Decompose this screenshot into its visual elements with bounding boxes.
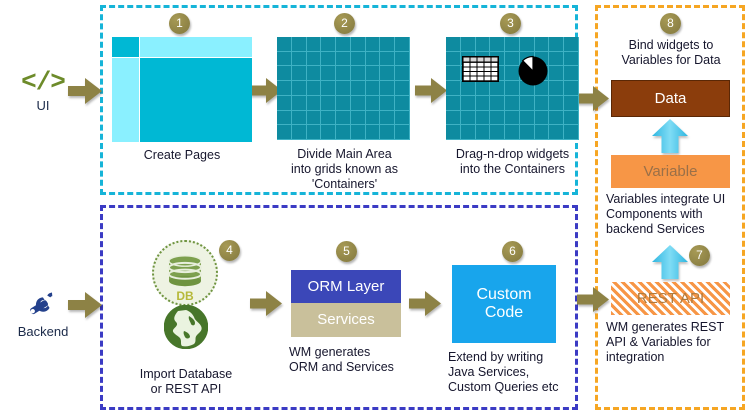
grid-cell [321, 66, 336, 81]
step2-caption: Divide Main Areainto grids known as'Cont… [272, 147, 417, 192]
grid-cell [336, 37, 351, 52]
grid-cell [351, 111, 366, 126]
grid-cell [366, 66, 381, 81]
step-badge-5: 5 [336, 241, 357, 262]
grid-cell [336, 111, 351, 126]
grid-cell [490, 111, 505, 126]
grid-cell [564, 111, 579, 126]
services-block: Services [291, 303, 401, 337]
grid-cell [535, 96, 550, 111]
custom-code-label: CustomCode [476, 286, 531, 323]
grid-cell [380, 125, 395, 140]
wrench-icon [24, 288, 62, 322]
grid-cell [351, 52, 366, 67]
grid-cell [277, 81, 292, 96]
grid-cell [336, 96, 351, 111]
grid-cell [366, 96, 381, 111]
grid-cell [277, 37, 292, 52]
grid-cell [321, 52, 336, 67]
mockup-header-bar [140, 37, 252, 57]
grid-cell [520, 37, 535, 52]
step4-caption-text: Import Databaseor REST API [140, 367, 232, 396]
step3-caption-text: Drag-n-drop widgetsinto the Containers [456, 147, 569, 176]
grid-cell [292, 52, 307, 67]
arrow-step3-to-data [577, 86, 609, 111]
grid-cell [490, 81, 505, 96]
grid-cell [366, 111, 381, 126]
grid-cell [380, 66, 395, 81]
arrow-backend-to-step4 [68, 292, 102, 318]
services-label: Services [317, 311, 375, 328]
mockup-sidebar [112, 58, 139, 142]
custom-code-block: CustomCode [452, 265, 556, 343]
grid-cell [380, 111, 395, 126]
grid-cell [490, 37, 505, 52]
grid-cell [395, 52, 410, 67]
grid-cell [564, 81, 579, 96]
table-widget-icon [462, 56, 499, 82]
grid-cell [446, 125, 461, 140]
grid-cell [277, 52, 292, 67]
orm-layer-block: ORM Layer [291, 270, 401, 303]
grid-cell [321, 125, 336, 140]
grid-cell [307, 125, 322, 140]
step-badge-8: 8 [660, 13, 681, 34]
page-mockup-artwork [112, 37, 252, 142]
grid-cell [307, 66, 322, 81]
backend-label: Backend [8, 324, 78, 339]
grid-cell [461, 96, 476, 111]
grid-cell [321, 96, 336, 111]
step1-caption: Create Pages [112, 148, 252, 163]
grid-cell [395, 125, 410, 140]
variables-integrate-caption: Variables integrate UIComponents withbac… [606, 192, 742, 237]
grid-cell [535, 125, 550, 140]
grid-cell [307, 81, 322, 96]
custom-code-line1: Custom [476, 286, 531, 303]
grid-cell [395, 96, 410, 111]
grid-cell [535, 37, 550, 52]
grid-cell [395, 81, 410, 96]
grid-cell [505, 111, 520, 126]
grid-with-widgets-artwork [446, 37, 579, 140]
grid-cell [461, 125, 476, 140]
rest-api-block: REST API [611, 282, 730, 315]
grid-cell [336, 81, 351, 96]
grid-cell [520, 125, 535, 140]
grid-cell [351, 81, 366, 96]
grid-cell [564, 37, 579, 52]
grid-cell [366, 52, 381, 67]
grid-cell [505, 37, 520, 52]
step6-caption-text: Extend by writingJava Services,Custom Qu… [448, 350, 558, 394]
grid-cell [307, 96, 322, 111]
grid-cell [476, 125, 491, 140]
data-block: Data [611, 80, 730, 117]
grid-cell [277, 96, 292, 111]
grid-cell [446, 111, 461, 126]
step4-caption: Import Databaseor REST API [113, 367, 259, 397]
grid-cell [292, 37, 307, 52]
grid-cell [351, 96, 366, 111]
grid-cell [520, 96, 535, 111]
globe-icon [164, 305, 208, 349]
grid-cell [461, 81, 476, 96]
grid-cell [336, 125, 351, 140]
variables-integrate-text: Variables integrate UIComponents withbac… [606, 192, 725, 236]
grid-cell [321, 81, 336, 96]
rest-api-label: REST API [637, 290, 704, 307]
step-badge-1: 1 [169, 13, 190, 34]
grid-cell [490, 125, 505, 140]
grid-cell [366, 125, 381, 140]
database-icon: DB [152, 240, 218, 306]
custom-code-line2: Code [485, 304, 523, 321]
grid-cell [535, 111, 550, 126]
grid-cell [380, 81, 395, 96]
grid-cell [490, 96, 505, 111]
arrow-step2-to-step3 [415, 78, 447, 103]
step-badge-2: 2 [334, 13, 355, 34]
diagram-canvas: </> UI Backend [0, 0, 750, 417]
arrow-ui-to-step1 [68, 78, 102, 104]
grid-mockup-artwork [277, 37, 410, 140]
step3-caption: Drag-n-drop widgetsinto the Containers [441, 147, 584, 177]
grid-cell [292, 111, 307, 126]
grid-cell [476, 111, 491, 126]
grid-cell [351, 37, 366, 52]
grid-cell [564, 66, 579, 81]
grid-cell [292, 81, 307, 96]
mockup-main-area [140, 58, 252, 142]
grid-cell [321, 37, 336, 52]
grid-cell [277, 66, 292, 81]
up-arrow-variable-to-data [651, 119, 689, 153]
grid-cell [446, 66, 461, 81]
grid-cell [446, 96, 461, 111]
grid-cell [564, 125, 579, 140]
step6-caption: Extend by writingJava Services,Custom Qu… [448, 350, 584, 395]
grid-cell [336, 52, 351, 67]
grid-cell [380, 52, 395, 67]
grid-cell [366, 37, 381, 52]
step7-caption: WM generates RESTAPI & Variables forinte… [606, 320, 742, 365]
grid-cell [380, 37, 395, 52]
step5-caption: WM generatesORM and Services [289, 345, 419, 375]
arrow-step4-to-step5 [250, 291, 282, 316]
grid-cell [446, 52, 461, 67]
grid-cell [476, 81, 491, 96]
grid-cell [277, 125, 292, 140]
grid-cell [446, 81, 461, 96]
grid-cell [351, 125, 366, 140]
step-badge-4: 4 [219, 240, 240, 261]
db-label: DB [152, 289, 218, 303]
step7-caption-text: WM generates RESTAPI & Variables forinte… [606, 320, 724, 364]
grid-cell [549, 125, 564, 140]
grid-cell [505, 96, 520, 111]
grid-cell [307, 111, 322, 126]
grid-cell [476, 37, 491, 52]
grid-cell [292, 66, 307, 81]
step8-caption: Bind widgets toVariables for Data [606, 38, 736, 68]
grid-cell [564, 52, 579, 67]
grid-cell [520, 111, 535, 126]
grid-cell [292, 125, 307, 140]
grid-cell [307, 37, 322, 52]
grid-cell [549, 96, 564, 111]
orm-layer-label: ORM Layer [308, 278, 385, 295]
grid-cell [549, 66, 564, 81]
grid-cell [549, 111, 564, 126]
grid-cell [446, 37, 461, 52]
grid-cell [549, 81, 564, 96]
arrow-step5-to-step6 [409, 291, 441, 316]
mockup-logo-cell [112, 37, 139, 57]
variable-block: Variable [611, 155, 730, 188]
step-badge-7: 7 [689, 245, 710, 266]
grid-cell [395, 111, 410, 126]
step-badge-3: 3 [500, 13, 521, 34]
grid-cell [366, 81, 381, 96]
grid-cell [351, 66, 366, 81]
step5-caption-text: WM generatesORM and Services [289, 345, 394, 374]
grid-cell [277, 111, 292, 126]
grid-cell [292, 96, 307, 111]
grid-cell [564, 96, 579, 111]
grid-cell [461, 111, 476, 126]
arrow-step6-to-rest-api [577, 287, 609, 312]
grid-cell [505, 125, 520, 140]
grid-cell [461, 37, 476, 52]
up-arrow-rest-to-variable [651, 245, 689, 279]
grid-cell [321, 111, 336, 126]
grid-cell [307, 52, 322, 67]
grid-cell [549, 52, 564, 67]
grid-cell [476, 96, 491, 111]
grid-cell [549, 37, 564, 52]
grid-cell [336, 66, 351, 81]
data-label: Data [655, 90, 687, 107]
grid-cell [380, 96, 395, 111]
variable-label: Variable [644, 163, 698, 180]
step-badge-6: 6 [502, 241, 523, 262]
step2-caption-text: Divide Main Areainto grids known as'Cont… [291, 147, 398, 191]
pie-chart-widget-icon [517, 55, 549, 87]
grid-cell [395, 37, 410, 52]
grid-cell [395, 66, 410, 81]
step8-caption-text: Bind widgets toVariables for Data [621, 38, 720, 67]
